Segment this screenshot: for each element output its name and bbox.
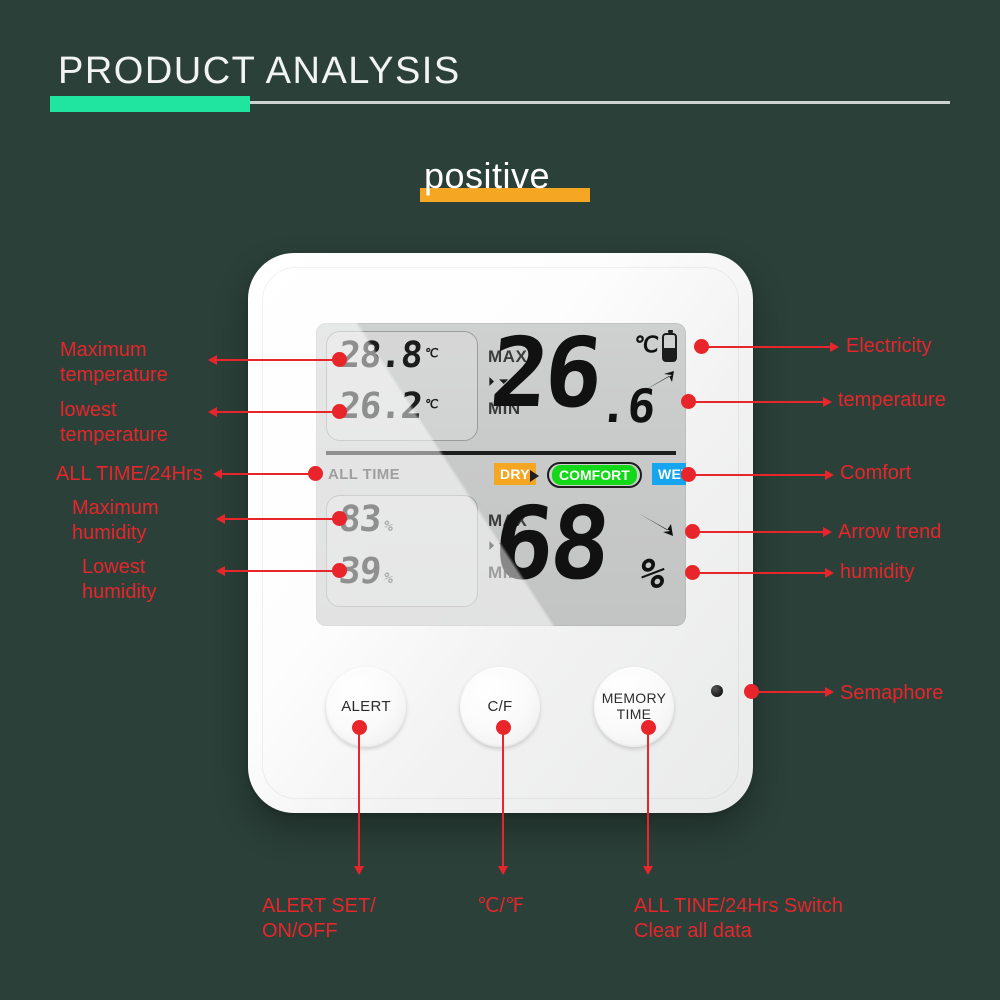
humidity-main-unit: % (637, 553, 668, 595)
annotation-semaphore: Semaphore (840, 681, 943, 706)
humidity-max-unit: % (384, 517, 395, 535)
semaphore-led (711, 685, 723, 697)
annotation-temperature: temperature (838, 388, 946, 413)
temperature-main-reading: 26 .6 (491, 329, 655, 429)
title-rule-accent (50, 96, 250, 112)
leader-line-comfort (689, 474, 825, 476)
leader-arrow-lowest-temperature (208, 407, 217, 417)
leader-line-lowest-temperature (217, 411, 337, 413)
battery-icon (662, 333, 677, 362)
leader-arrow-arrow-trend (823, 527, 832, 537)
temperature-max-unit: ℃ (424, 347, 439, 360)
annotation-alert-set-onoff: ALERT SET/ ON/OFF (262, 894, 422, 944)
leader-arrow-semaphore (825, 687, 834, 697)
subtitle-text: positive (424, 155, 550, 197)
annotation-arrow-trend: Arrow trend (838, 520, 941, 545)
leader-arrow-electricity (830, 342, 839, 352)
alert-button[interactable]: ALERT (326, 667, 406, 747)
leader-line-memory-button (647, 728, 649, 868)
annotation-electricity: Electricity (846, 334, 932, 359)
leader-line-maximum-temperature (217, 359, 337, 361)
temperature-max-value: 28.8 (337, 338, 423, 374)
leader-line-alert-button (358, 728, 360, 868)
all-time-label: ALL TIME (328, 466, 400, 483)
leader-arrow-lowest-humidity (216, 566, 225, 576)
arrow-up-right-icon (638, 369, 678, 400)
leader-arrow-maximum-temperature (208, 355, 217, 365)
annotation-celsius-fahrenheit: ℃/℉ (477, 894, 597, 919)
humidity-indicators: % (634, 509, 684, 619)
leader-arrow-cf-button (498, 866, 508, 875)
leader-line-maximum-humidity (225, 518, 337, 520)
lcd-divider (326, 451, 676, 455)
leader-line-arrow-trend (693, 531, 823, 533)
leader-arrow-memory-button (643, 866, 653, 875)
humidity-min-unit: % (384, 569, 395, 587)
humidity-main-value: 68 (490, 498, 610, 590)
leader-arrow-humidity (825, 568, 834, 578)
temperature-minmax-box: 28.8 ℃ 26.2 ℃ (326, 331, 478, 441)
leader-line-cf-button (502, 728, 504, 868)
temperature-min-row: 26.2 ℃ (339, 389, 438, 425)
cf-button[interactable]: C/F (460, 667, 540, 747)
leader-line-temperature (689, 401, 823, 403)
temperature-min-value: 26.2 (337, 389, 423, 425)
leader-arrow-alert-button (354, 866, 364, 875)
humidity-minmax-box: 83 % 39 % (326, 495, 478, 607)
comfort-tag: COMFORT (552, 465, 637, 485)
leader-line-electricity (702, 346, 830, 348)
leader-arrow-temperature (823, 397, 832, 407)
subtitle-block: positive (418, 155, 598, 205)
page-title: PRODUCT ANALYSIS (58, 50, 461, 93)
annotation-humidity: humidity (840, 560, 914, 585)
leader-line-humidity (693, 572, 825, 574)
arrow-down-right-icon (636, 509, 678, 544)
annotation-all-tine-24hrs-switch: ALL TINE/24Hrs Switch Clear all data (634, 894, 934, 944)
leader-arrow-all-time (213, 469, 222, 479)
temperature-main-integer: 26 (487, 329, 602, 417)
leader-line-all-time (222, 473, 314, 475)
temperature-min-unit: ℃ (424, 398, 439, 411)
leader-line-semaphore (752, 691, 825, 693)
triangle-right-icon (530, 470, 539, 482)
annotation-comfort: Comfort (840, 461, 911, 486)
leader-arrow-comfort (825, 470, 834, 480)
annotation-lowest-temperature: lowest temperature (60, 398, 240, 448)
temperature-max-row: 28.8 ℃ (339, 338, 438, 374)
temperature-main-unit: ℃ (633, 333, 660, 358)
lcd-screen: 28.8 ℃ 26.2 ℃ MAX ⏵⏷ MIN 26 .6 ℃ (316, 323, 686, 626)
leader-arrow-maximum-humidity (216, 514, 225, 524)
leader-line-lowest-humidity (225, 570, 337, 572)
memory-time-button[interactable]: MEMORY TIME (594, 667, 674, 747)
humidity-max-row: 83 % (339, 502, 393, 538)
humidity-main-reading: 68 (494, 498, 606, 590)
annotation-lowest-humidity: Lowest humidity (82, 555, 242, 605)
temperature-indicators: ℃ (634, 331, 684, 441)
humidity-min-row: 39 % (339, 554, 393, 590)
